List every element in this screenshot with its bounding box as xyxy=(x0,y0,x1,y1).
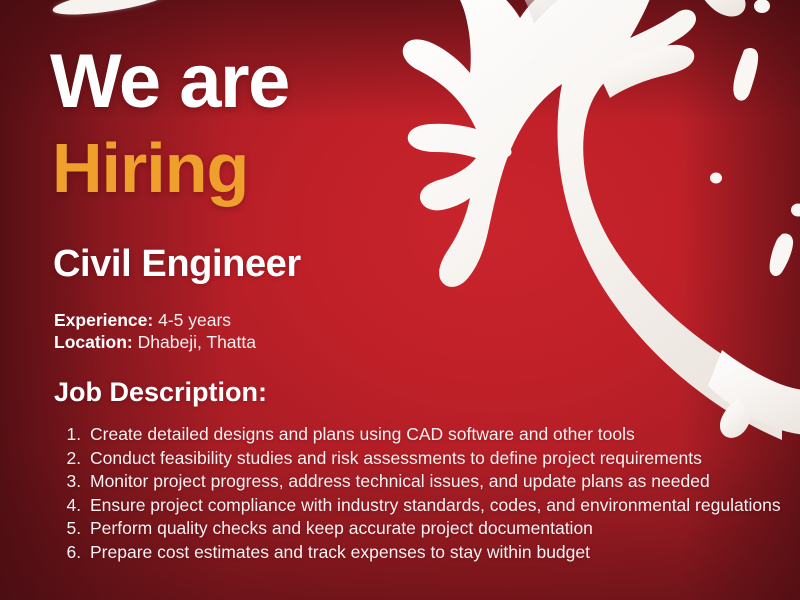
hiring-poster: We are Hiring Civil Engineer Experience:… xyxy=(0,0,800,600)
job-description-list: Create detailed designs and plans using … xyxy=(62,423,800,565)
job-description-item: Ensure project compliance with industry … xyxy=(86,494,800,518)
headline-hiring: Hiring xyxy=(52,133,248,203)
headline-we-are: We are xyxy=(50,44,289,120)
location-row: Location: Dhabeji, Thatta xyxy=(54,331,256,353)
location-label: Location: xyxy=(54,332,133,352)
job-description-item: Conduct feasibility studies and risk ass… xyxy=(86,447,800,471)
job-description-item: Create detailed designs and plans using … xyxy=(86,423,800,447)
job-description-item: Monitor project progress, address techni… xyxy=(86,470,800,494)
location-value: Dhabeji, Thatta xyxy=(138,332,256,352)
experience-value: 4-5 years xyxy=(158,310,231,330)
poster-text-column: We are Hiring Civil Engineer Experience:… xyxy=(50,0,780,600)
job-description-item: Prepare cost estimates and track expense… xyxy=(86,541,800,565)
job-title: Civil Engineer xyxy=(53,245,301,283)
experience-row: Experience: 4-5 years xyxy=(54,309,256,331)
job-description-heading: Job Description: xyxy=(54,379,267,406)
experience-label: Experience: xyxy=(54,310,153,330)
job-description-item: Perform quality checks and keep accurate… xyxy=(86,517,800,541)
job-meta: Experience: 4-5 years Location: Dhabeji,… xyxy=(54,309,256,353)
